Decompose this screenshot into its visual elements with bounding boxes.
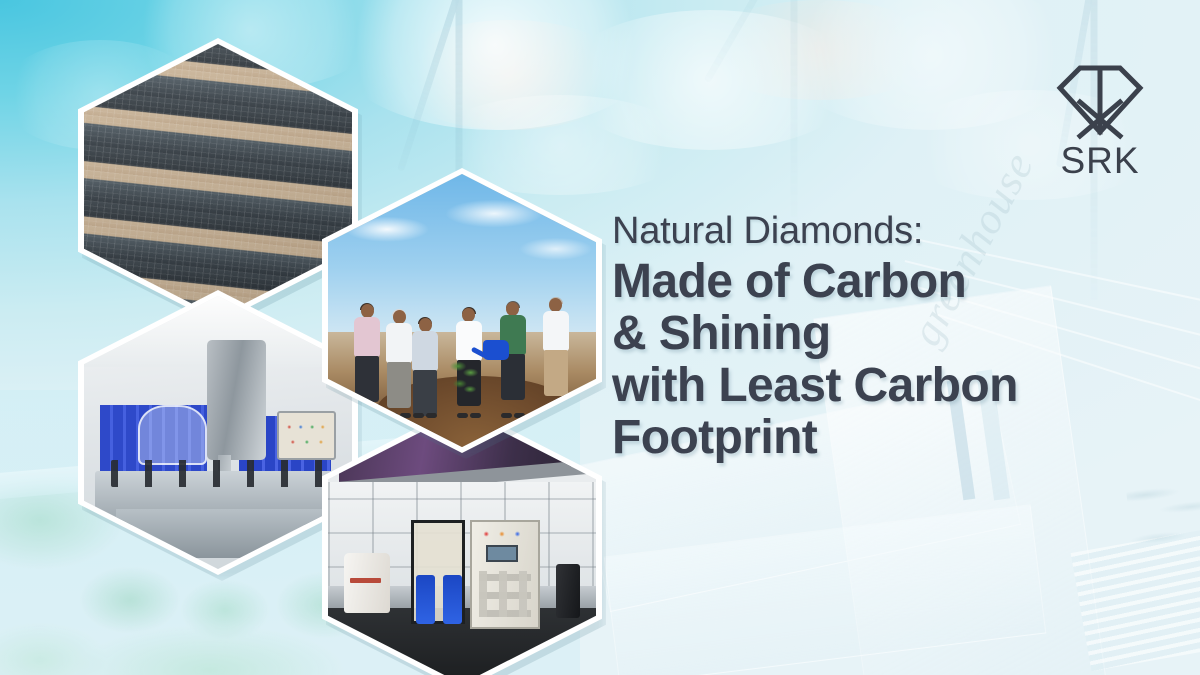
headline-line-5: Footprint <box>612 414 1172 462</box>
diamond-outline-icon <box>1052 58 1148 150</box>
brand-logo: SRK <box>1052 58 1148 183</box>
headline-line-2: Made of Carbon <box>612 258 1172 306</box>
sky-warm-glow <box>700 0 940 100</box>
poster-canvas: greenhouse <box>0 0 1200 675</box>
watering-can-icon <box>483 340 509 360</box>
page-title: Natural Diamonds: Made of Carbon & Shini… <box>612 212 1172 466</box>
headline-line-3: & Shining <box>612 310 1172 358</box>
sky-warm-glow <box>390 20 630 130</box>
building-slab <box>604 504 1047 675</box>
headline-line-4: with Least Carbon <box>612 362 1172 410</box>
brand-logo-text: SRK <box>1052 142 1148 179</box>
sapling-icon <box>449 357 479 403</box>
palm-tree-icon <box>1124 466 1200 585</box>
headline-line-1: Natural Diamonds: <box>612 212 1172 250</box>
